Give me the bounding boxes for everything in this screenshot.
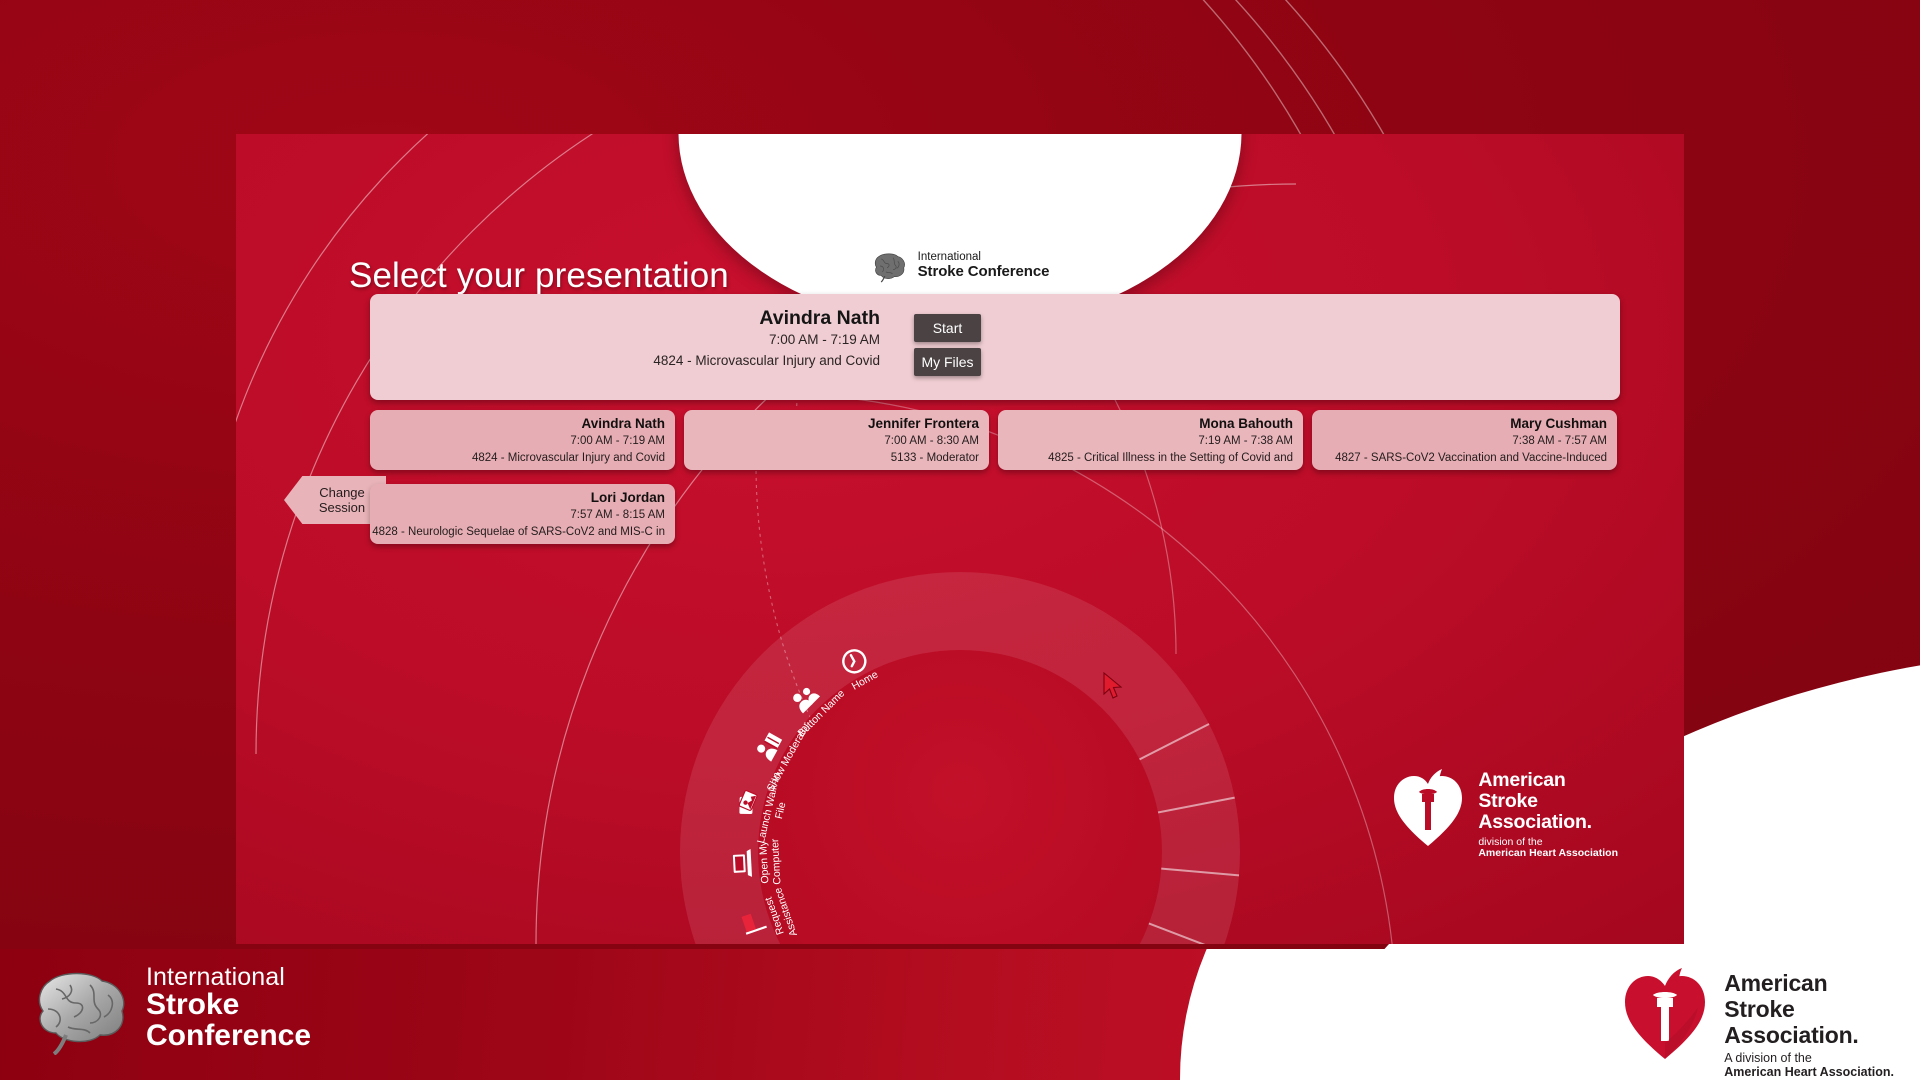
my-files-button[interactable]: My Files bbox=[914, 348, 981, 376]
mouse-cursor bbox=[1102, 672, 1124, 702]
brain-icon bbox=[871, 248, 909, 284]
presentation-app-window: International Stroke Conference Select y… bbox=[236, 134, 1684, 944]
heart-torch-icon bbox=[1622, 967, 1708, 1061]
asa-in-app-text: American Stroke Association. division of… bbox=[1478, 768, 1618, 860]
session-time: 7:19 AM - 7:38 AM bbox=[1048, 433, 1293, 450]
featured-time: 7:00 AM - 7:19 AM bbox=[460, 330, 880, 350]
taskbar-isc-line1: International bbox=[146, 965, 311, 991]
taskbar-asa-sub1: A division of the bbox=[1724, 1051, 1894, 1065]
session-card-text: Mona Bahouth 7:19 AM - 7:38 AM 4825 - Cr… bbox=[1048, 415, 1293, 467]
session-card[interactable]: Jennifer Frontera 7:00 AM - 8:30 AM 5133… bbox=[684, 410, 989, 470]
radial-menu: Request Assistance Open My Computer bbox=[680, 572, 1240, 944]
taskbar-isc-text: International Stroke Conference bbox=[146, 965, 311, 1052]
session-description: 4824 - Microvascular Injury and Covid bbox=[472, 450, 665, 467]
heart-torch-icon bbox=[1392, 768, 1464, 848]
session-description: 5133 - Moderator bbox=[868, 450, 979, 467]
session-presenter-name: Mary Cushman bbox=[1335, 415, 1607, 433]
session-time: 7:00 AM - 8:30 AM bbox=[868, 433, 979, 450]
featured-description: 4824 - Microvascular Injury and Covid bbox=[460, 351, 880, 371]
session-card[interactable]: Avindra Nath 7:00 AM - 7:19 AM 4824 - Mi… bbox=[370, 410, 675, 470]
change-session-label: Change Session bbox=[319, 485, 365, 516]
session-card-text: Jennifer Frontera 7:00 AM - 8:30 AM 5133… bbox=[868, 415, 979, 467]
radial-divider bbox=[959, 723, 1209, 852]
session-card[interactable]: Lori Jordan 7:57 AM - 8:15 AM 4828 - Neu… bbox=[370, 484, 675, 544]
taskbar-asa-line1: American bbox=[1724, 971, 1894, 997]
radial-divider bbox=[960, 850, 1222, 944]
radial-divider bbox=[960, 851, 1062, 944]
session-description: 4825 - Critical Illness in the Setting o… bbox=[1048, 450, 1293, 467]
asa-line1: American bbox=[1478, 770, 1618, 791]
page-title: Select your presentation bbox=[349, 256, 729, 296]
isc-badge-line2: Stroke Conference bbox=[918, 264, 1050, 281]
session-presenter-name: Lori Jordan bbox=[372, 489, 665, 507]
isc-badge-logo: International Stroke Conference bbox=[871, 248, 1050, 284]
session-description: 4827 - SARS-CoV2 Vaccination and Vaccine… bbox=[1335, 450, 1607, 467]
radial-divider bbox=[960, 850, 1239, 876]
change-session-line2: Session bbox=[319, 500, 365, 515]
session-cards-row-2: Change Session Lori Jordan 7:57 AM - 8:1… bbox=[370, 484, 675, 544]
radial-divider bbox=[960, 850, 1185, 944]
brain-icon bbox=[28, 961, 128, 1055]
taskbar-isc-brand: International Stroke Conference bbox=[28, 961, 311, 1055]
session-presenter-name: Jennifer Frontera bbox=[868, 415, 979, 433]
session-card[interactable]: Mona Bahouth 7:19 AM - 7:38 AM 4825 - Cr… bbox=[998, 410, 1303, 470]
session-description: 4828 - Neurologic Sequelae of SARS-CoV2 … bbox=[372, 524, 665, 541]
taskbar-asa-sub2: American Heart Association. bbox=[1724, 1065, 1894, 1079]
laptop-icon bbox=[728, 848, 758, 879]
asa-line3: Association. bbox=[1478, 812, 1618, 833]
taskbar-isc-line2: Stroke bbox=[146, 990, 311, 1021]
session-time: 7:00 AM - 7:19 AM bbox=[472, 433, 665, 450]
asa-sub2: American Heart Association bbox=[1478, 848, 1618, 860]
taskbar-asa-text: American Stroke Association. A division … bbox=[1724, 967, 1894, 1079]
session-time: 7:38 AM - 7:57 AM bbox=[1335, 433, 1607, 450]
session-card-text: Avindra Nath 7:00 AM - 7:19 AM 4824 - Mi… bbox=[472, 415, 665, 467]
session-time: 7:57 AM - 8:15 AM bbox=[372, 507, 665, 524]
taskbar-asa-brand: American Stroke Association. A division … bbox=[1622, 967, 1894, 1079]
asa-line2: Stroke bbox=[1478, 791, 1618, 812]
slides-icon bbox=[731, 785, 765, 821]
session-card[interactable]: Mary Cushman 7:38 AM - 7:57 AM 4827 - SA… bbox=[1312, 410, 1617, 470]
radial-divider bbox=[960, 797, 1235, 852]
session-presenter-name: Mona Bahouth bbox=[1048, 415, 1293, 433]
taskbar-isc-line3: Conference bbox=[146, 1021, 311, 1052]
isc-badge-text: International Stroke Conference bbox=[918, 251, 1050, 280]
session-card-text: Lori Jordan 7:57 AM - 8:15 AM 4828 - Neu… bbox=[372, 489, 665, 541]
radial-divider bbox=[960, 851, 1130, 944]
featured-presentation-card[interactable]: Avindra Nath 7:00 AM - 7:19 AM 4824 - Mi… bbox=[370, 294, 1620, 400]
featured-card-text: Avindra Nath 7:00 AM - 7:19 AM 4824 - Mi… bbox=[460, 306, 880, 370]
taskbar-asa-line2: Stroke bbox=[1724, 997, 1894, 1023]
featured-presenter-name: Avindra Nath bbox=[460, 306, 880, 330]
screen-root: International Stroke Conference Select y… bbox=[0, 0, 1920, 1080]
start-button[interactable]: Start bbox=[914, 314, 981, 342]
taskbar: International Stroke Conference American… bbox=[0, 949, 1920, 1080]
session-card-text: Mary Cushman 7:38 AM - 7:57 AM 4827 - SA… bbox=[1335, 415, 1607, 467]
taskbar-asa-line3: Association. bbox=[1724, 1023, 1894, 1049]
asa-logo-in-app: American Stroke Association. division of… bbox=[1392, 768, 1618, 860]
change-session-line1: Change bbox=[319, 485, 365, 500]
session-presenter-name: Avindra Nath bbox=[472, 415, 665, 433]
